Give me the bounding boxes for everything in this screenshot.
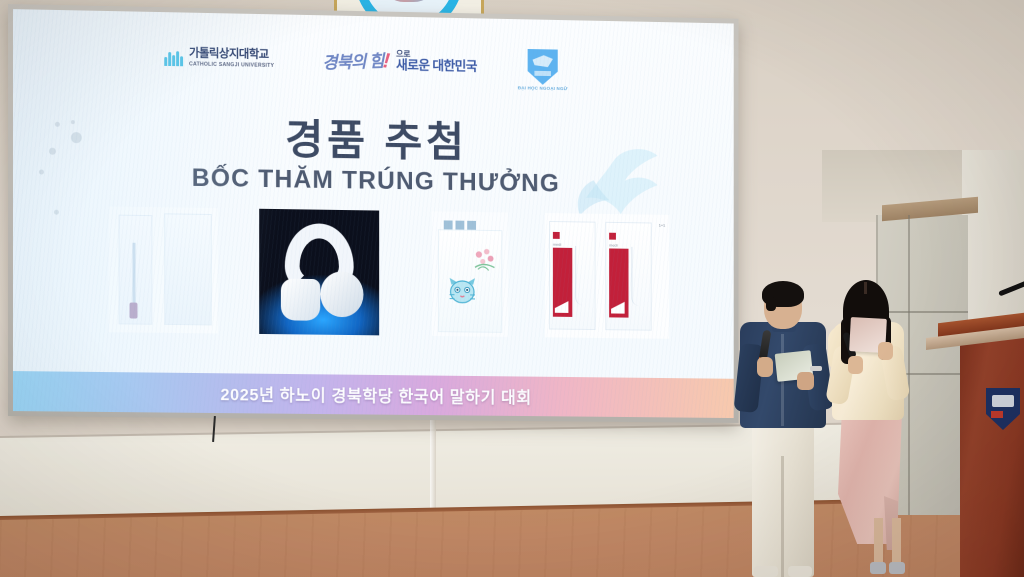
male-mc-right-hand [797, 372, 814, 390]
sangji-english-name: CATHOLIC SANGJI UNIVERSITY [189, 62, 274, 69]
female-mc-shoe-left [870, 562, 886, 574]
flower-illustration-icon [471, 246, 500, 276]
female-mc-leg-right [892, 518, 901, 566]
female-mc-left-hand [848, 356, 863, 374]
prize-image-row: medi medi 1+1 [13, 205, 734, 345]
ulis-shield-icon [528, 49, 558, 85]
female-mc-shoe-right [889, 562, 905, 574]
male-mc-shoe-left [754, 566, 778, 577]
prize-cosmetic-applicator [109, 207, 218, 334]
slide-bottom-banner: 2025년 하노이 경북학당 한국어 말하기 대회 [13, 371, 734, 418]
male-mc-wristwatch [810, 366, 822, 371]
sangji-korean-name: 가톨릭상지대학교 [189, 48, 274, 61]
female-mc-right-hand [878, 342, 893, 360]
gyeongbuk-slogan-logo: 경북의 힘! 으로 새로운 대한민국 [322, 47, 477, 76]
gyeongbuk-script-text: 경북의 힘! [322, 47, 390, 75]
banner-text: 2025년 하노이 경북학당 한국어 말하기 대회 [220, 381, 531, 408]
projected-slide: 가톨릭상지대학교 CATHOLIC SANGJI UNIVERSITY 경북의 … [13, 9, 734, 418]
sangji-mark-icon [164, 49, 184, 66]
wooden-podium [960, 326, 1024, 577]
photo-scene: 가톨릭상지대학교 CATHOLIC SANGJI UNIVERSITY 경북의 … [0, 0, 1024, 577]
tiger-illustration-icon [446, 275, 479, 309]
female-mc-leg-left [874, 518, 883, 566]
gyeongbuk-tagline: 새로운 대한민국 [396, 59, 477, 74]
male-mc-shoe-right [788, 566, 812, 577]
catholic-sangji-university-logo: 가톨릭상지대학교 CATHOLIC SANGJI UNIVERSITY [164, 48, 274, 69]
prize-tiger-tumbler [432, 211, 508, 337]
gyeongbuk-stroke-mark: ! [382, 49, 390, 73]
male-mc-hair [762, 281, 804, 307]
male-mc-trousers [752, 416, 814, 577]
female-mc-hair-part [864, 282, 867, 294]
prize-red-cosmetic-boxes: medi medi 1+1 [545, 213, 669, 339]
projection-screen-frame: 가톨릭상지대학교 CATHOLIC SANGJI UNIVERSITY 경북의 … [8, 4, 739, 423]
male-mc-left-hand [757, 357, 773, 377]
ulis-name: ĐẠI HỌC NGOẠI NGỮ [518, 85, 568, 91]
ulis-university-logo: ĐẠI HỌC NGOẠI NGỮ [518, 49, 568, 91]
slide-logo-row: 가톨릭상지대학교 CATHOLIC SANGJI UNIVERSITY 경북의 … [13, 41, 734, 106]
prize-white-headphones [259, 209, 379, 336]
gyeongbuk-script: 경북의 힘 [322, 52, 384, 73]
